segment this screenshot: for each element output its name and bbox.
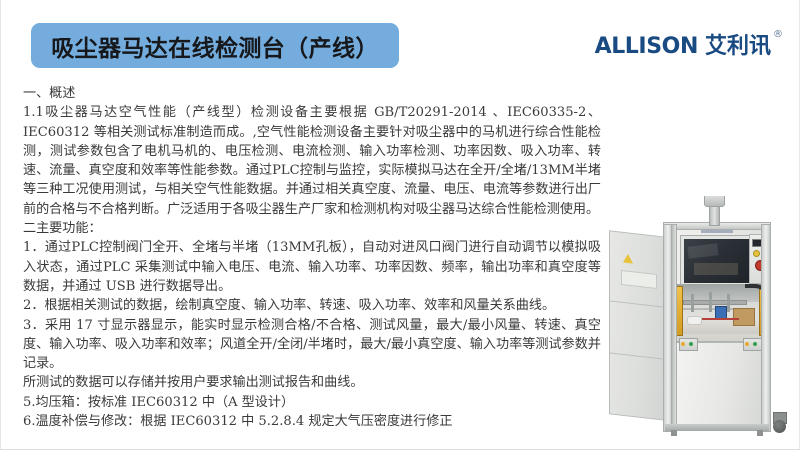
section-two-heading: 二主要功能： [23, 219, 601, 238]
photo-amber-lamp-icon [681, 342, 685, 346]
photo-exhaust-cap [704, 196, 725, 207]
feature-item-2: 2．根据相关测试的数据，绘制真空度、输入功率、转速、吸入功率、效率和风量关系曲线… [23, 296, 601, 315]
logo-english-text: ALLISON [595, 36, 698, 58]
photo-leveling-foot [671, 430, 677, 436]
registered-trademark-icon: ® [773, 30, 783, 40]
photo-fixture-post [691, 294, 694, 312]
page-title: 吸尘器马达在线检测台（产线） [51, 29, 379, 63]
closing-line-1: 所测试的数据可以存储并按用户要求输出测试报告和曲线。 [23, 373, 601, 392]
photo-glass-glare [687, 243, 718, 259]
photo-frame-post [761, 224, 771, 432]
photo-yellow-button-icon [753, 250, 760, 257]
closing-line-2: 5.均压箱：按标准 IEC60312 中（A 型设计） [23, 393, 601, 412]
photo-hmi-window [681, 236, 753, 286]
section-one-heading: 一、概述 [23, 84, 601, 103]
photo-lower-door [673, 342, 765, 428]
photo-white-part [687, 316, 702, 325]
equipment-photo [605, 196, 797, 436]
photo-green-lamp-icon [753, 342, 757, 346]
photo-green-lamp-icon [689, 342, 693, 346]
photo-base-plinth [665, 424, 769, 431]
body-content: 一、概述 1.1吸尘器马达空气性能（产线型）检测设备主要根据 GB/T20291… [23, 84, 601, 431]
brand-logo: ALLISON 艾利讯 ® [595, 36, 783, 58]
closing-line-3: 6.温度补偿与修改：根据 IEC60312 中 5.2.8.4 规定大气压密度进… [23, 412, 601, 431]
slide-canvas: 吸尘器马达在线检测台（产线） ALLISON 艾利讯 ® 一、概述 1.1吸尘器… [0, 0, 800, 450]
photo-fixture-post [709, 292, 712, 312]
title-banner: 吸尘器马达在线检测台（产线） [31, 23, 399, 68]
photo-window-interior [694, 263, 738, 275]
photo-fixture-post [727, 294, 730, 312]
photo-amber-lamp-icon [745, 342, 749, 346]
photo-brand-decal [701, 230, 733, 233]
hazard-label-icon [623, 253, 633, 263]
logo-chinese-text: 艾利讯 [705, 36, 771, 58]
feature-item-1: 1．通过PLC控制阀门全开、全堵与半堵（13MM孔板），自动对进风口阀门进行自动… [23, 238, 601, 296]
feature-item-3: 3．采用 17 寸显示器显示，能实时显示检测合格/不合格、测试风量，最大/最小风… [23, 316, 601, 374]
photo-frame-post [671, 224, 677, 432]
photo-leveling-foot [757, 430, 763, 436]
overview-paragraph: 1.1吸尘器马达空气性能（产线型）检测设备主要根据 GB/T20291-2014… [23, 103, 601, 219]
photo-caster-wheel [773, 420, 786, 433]
